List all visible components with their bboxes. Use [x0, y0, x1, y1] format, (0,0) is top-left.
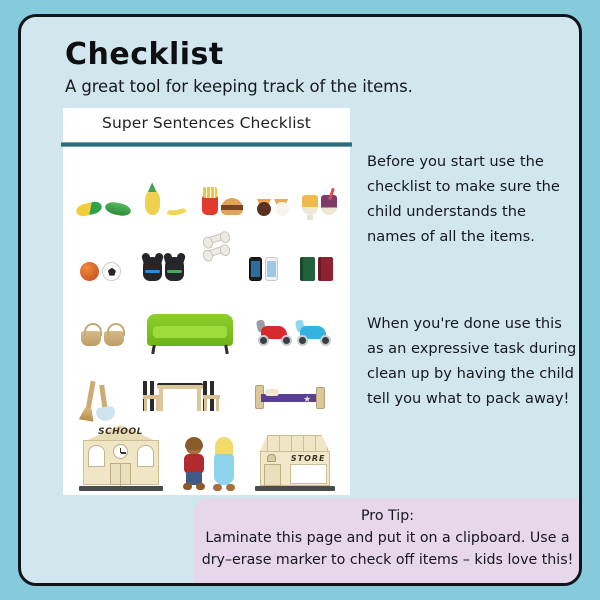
checklist-sheet-title: Super Sentences Checklist [63, 114, 350, 132]
girl-doll-icon [212, 439, 236, 491]
table-and-chairs-item [143, 346, 217, 411]
books-item [300, 215, 333, 280]
store-item: STORE [255, 411, 335, 491]
boy-doll-icon [182, 439, 206, 491]
fast-food-item [202, 150, 243, 215]
juice-glass-icon [302, 195, 318, 215]
phone-icon [249, 257, 262, 281]
phone-icon [265, 257, 278, 281]
book-icon [318, 257, 333, 281]
school-item: SCHOOL [79, 411, 163, 491]
food-vegetables-item [76, 150, 131, 215]
dog-icon [165, 257, 184, 281]
checklist-row [63, 150, 350, 215]
drinks-item [302, 150, 337, 215]
checklist-row [63, 281, 350, 346]
mop-icon [99, 385, 108, 411]
basket-icon [81, 331, 101, 346]
pro-tip-line-2: dry–erase marker to check off items – ki… [193, 549, 582, 571]
pro-tip-heading: Pro Tip: [193, 505, 582, 527]
ice-cream-item [257, 150, 288, 215]
checklist-row: ★ [63, 346, 350, 411]
store-building-icon: STORE [255, 431, 335, 491]
pro-tip-box: Pro Tip: Laminate this page and put it o… [193, 498, 582, 586]
bones-item [205, 215, 227, 280]
checklist-row [63, 215, 350, 280]
checklist-row: SCHOOL STORE [63, 411, 350, 491]
book-icon [300, 257, 315, 281]
chocolate-ice-cream-icon [257, 199, 271, 215]
phones-item [249, 215, 278, 280]
page-subtitle: A great tool for keeping track of the it… [65, 77, 413, 96]
baskets-item [81, 281, 124, 346]
bed-icon: ★ [255, 385, 325, 411]
page-title: Checklist [65, 37, 224, 72]
vanilla-ice-cream-icon [274, 199, 288, 215]
title-divider [61, 142, 352, 147]
basket-icon [104, 331, 124, 346]
info-card: Checklist A great tool for keeping track… [18, 14, 582, 586]
chair-icon [143, 381, 157, 411]
fries-icon [202, 196, 218, 215]
sofa-item [147, 281, 233, 346]
scooter-icon [296, 320, 332, 346]
checklist-rows: ★ SCHOOL STOR [63, 150, 350, 491]
checklist-sheet: Super Sentences Checklist [63, 108, 350, 495]
scooter-icon [257, 320, 293, 346]
store-sign-label: STORE [291, 454, 326, 463]
milkshake-glass-icon [321, 195, 337, 215]
pineapple-icon [145, 190, 160, 215]
dog-icon [143, 257, 162, 281]
dolls-item [182, 411, 236, 491]
soccer-ball-icon [102, 262, 121, 281]
burger-icon [221, 198, 243, 215]
bed-item: ★ [255, 346, 325, 411]
table-icon [157, 383, 203, 411]
chair-icon [203, 381, 217, 411]
school-building-icon: SCHOOL [79, 425, 163, 491]
school-sign-label: SCHOOL [79, 427, 163, 437]
food-fruit-item [145, 150, 189, 215]
dogs-item [143, 215, 184, 280]
balls-item [80, 215, 121, 280]
pro-tip-line-1: Laminate this page and put it on a clipb… [193, 527, 582, 549]
sofa-icon [147, 314, 233, 346]
scooters-item [257, 281, 332, 346]
broom-icon [85, 381, 95, 411]
cleaning-tools-item [88, 346, 106, 411]
basketball-icon [80, 262, 99, 281]
side-note-after: When you're done use this as an expressi… [367, 311, 579, 411]
side-note-before: Before you start use the checklist to ma… [367, 149, 579, 249]
